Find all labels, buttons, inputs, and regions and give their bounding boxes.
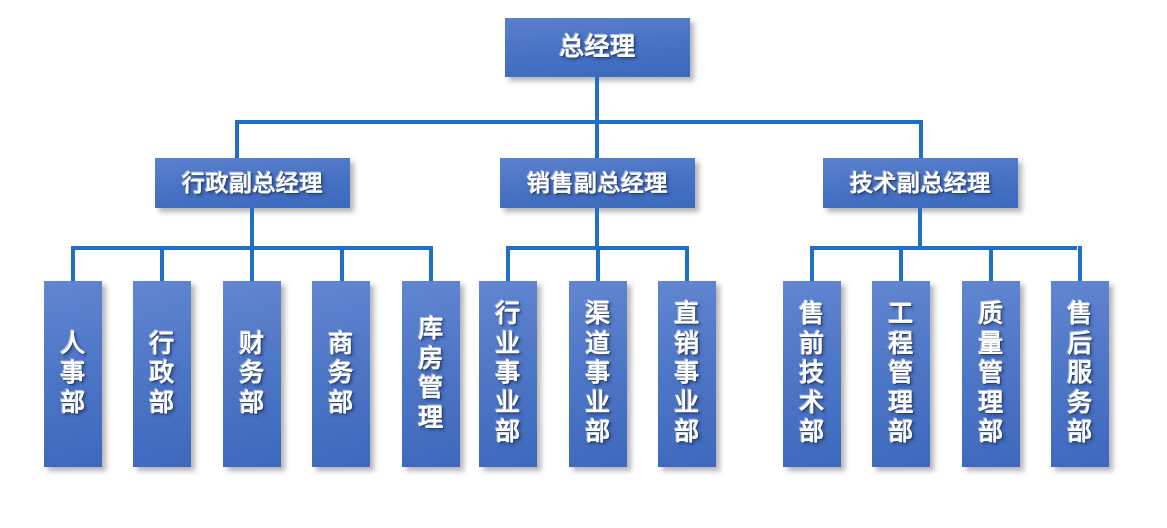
node-presales-tech-dept[interactable]: 售 前 技 术 部 bbox=[783, 281, 841, 467]
connector-drop-quality-mgmt-dept bbox=[989, 246, 993, 283]
connector-root-trunk bbox=[595, 77, 599, 122]
connector-drop-admin-vp bbox=[235, 120, 239, 160]
node-label: 人 事 部 bbox=[60, 330, 86, 419]
connector-drop-industry-bu bbox=[506, 246, 510, 283]
node-label: 销售副总经理 bbox=[527, 171, 668, 195]
connector-drop-engineering-mgmt-dept bbox=[899, 246, 903, 283]
connector-drop-admin-dept bbox=[160, 246, 164, 283]
node-direct-sales-bu[interactable]: 直 销 事 业 部 bbox=[658, 281, 716, 467]
node-label: 质 量 管 理 部 bbox=[978, 300, 1004, 448]
connector-level2-bus bbox=[235, 120, 923, 124]
node-label: 工 程 管 理 部 bbox=[888, 300, 914, 448]
connector-stem-technical bbox=[918, 208, 922, 250]
node-label: 技术副总经理 bbox=[850, 171, 991, 195]
connector-drop-presales-tech-dept bbox=[810, 246, 814, 283]
connector-drop-business-dept bbox=[340, 246, 344, 283]
connector-drop-sales-vp bbox=[595, 120, 599, 160]
node-label: 直 销 事 业 部 bbox=[674, 300, 700, 448]
connector-drop-technical-vp bbox=[919, 120, 923, 160]
connector-drop-hr-dept bbox=[71, 246, 75, 283]
node-label: 行 政 部 bbox=[149, 330, 175, 419]
node-quality-mgmt-dept[interactable]: 质 量 管 理 部 bbox=[962, 281, 1020, 467]
node-label: 库 房 管 理 bbox=[418, 315, 444, 433]
connector-drop-warehouse-mgmt bbox=[429, 246, 433, 283]
node-business-dept[interactable]: 商 务 部 bbox=[312, 281, 370, 467]
node-aftersales-service-dept[interactable]: 售 后 服 务 部 bbox=[1051, 281, 1109, 467]
node-technical-vp[interactable]: 技术副总经理 bbox=[823, 158, 1018, 208]
node-engineering-mgmt-dept[interactable]: 工 程 管 理 部 bbox=[872, 281, 930, 467]
node-admin-dept[interactable]: 行 政 部 bbox=[133, 281, 191, 467]
node-general-manager[interactable]: 总经理 bbox=[505, 18, 690, 77]
node-label: 总经理 bbox=[559, 34, 636, 60]
connector-drop-finance-dept bbox=[250, 246, 254, 283]
connector-technical-bus bbox=[810, 246, 1077, 250]
node-label: 售 前 技 术 部 bbox=[799, 300, 825, 448]
node-finance-dept[interactable]: 财 务 部 bbox=[223, 281, 281, 467]
node-hr-dept[interactable]: 人 事 部 bbox=[44, 281, 102, 467]
connector-stem-sales bbox=[595, 208, 599, 250]
node-label: 渠 道 事 业 部 bbox=[585, 300, 611, 448]
node-channel-bu[interactable]: 渠 道 事 业 部 bbox=[569, 281, 627, 467]
node-sales-vp[interactable]: 销售副总经理 bbox=[500, 158, 695, 208]
node-label: 财 务 部 bbox=[239, 330, 265, 419]
node-warehouse-mgmt[interactable]: 库 房 管 理 bbox=[402, 281, 460, 467]
node-label: 售 后 服 务 部 bbox=[1067, 300, 1093, 448]
node-label: 行 业 事 业 部 bbox=[495, 300, 521, 448]
connector-stem-admin bbox=[250, 208, 254, 250]
connector-drop-aftersales-service-dept bbox=[1078, 246, 1082, 283]
node-label: 商 务 部 bbox=[328, 330, 354, 419]
connector-drop-direct-sales-bu bbox=[685, 246, 689, 283]
node-industry-bu[interactable]: 行 业 事 业 部 bbox=[479, 281, 537, 467]
node-label: 行政副总经理 bbox=[182, 171, 323, 195]
node-admin-vp[interactable]: 行政副总经理 bbox=[155, 158, 350, 208]
org-chart: 总经理 行政副总经理 销售副总经理 技术副总经理 人 事 部 行 政 部 bbox=[0, 0, 1167, 528]
connector-drop-channel-bu bbox=[596, 246, 600, 283]
